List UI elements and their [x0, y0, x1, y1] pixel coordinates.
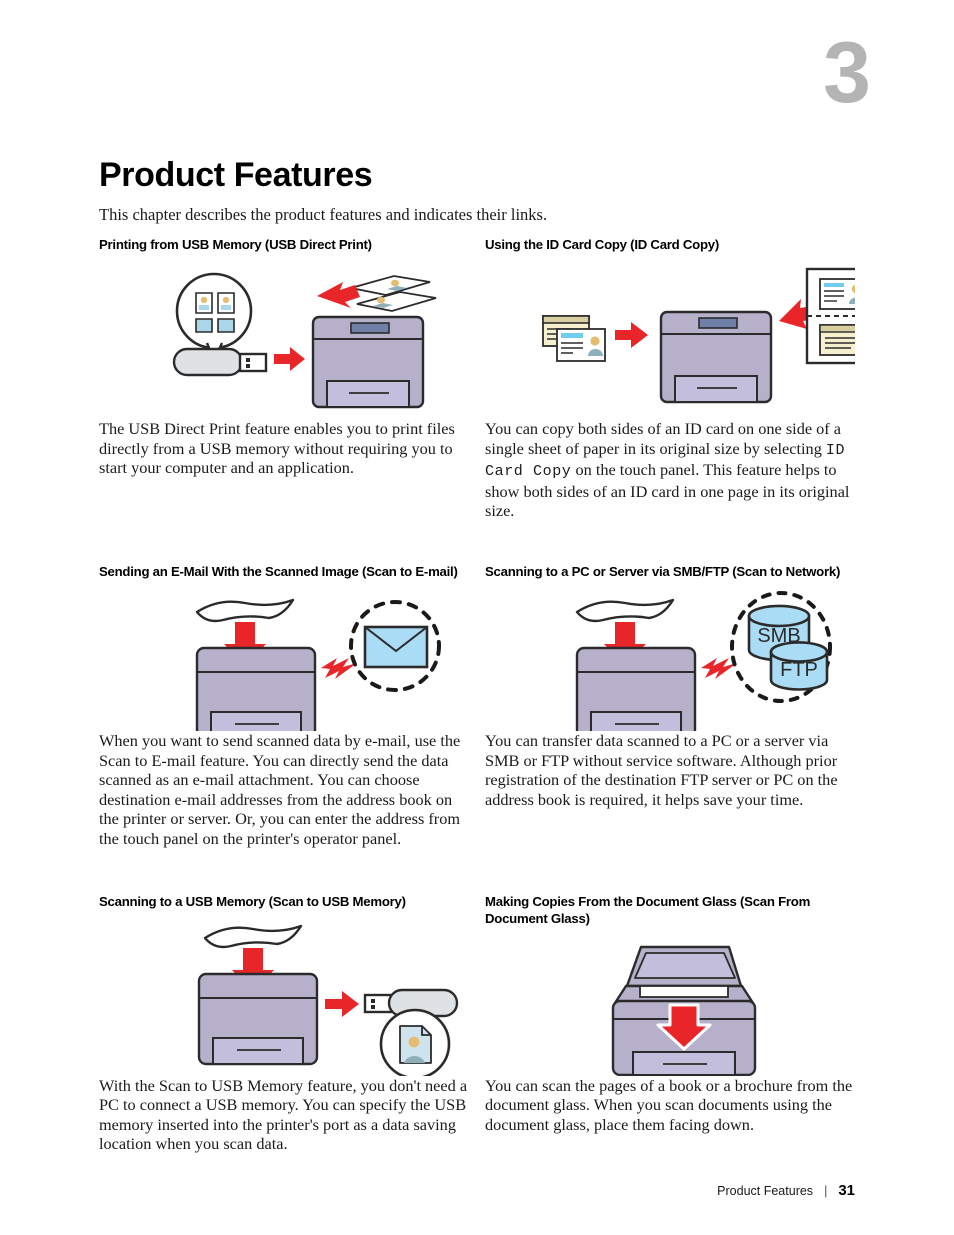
- feature-scan-from-document-glass: Making Copies From the Document Glass (S…: [485, 893, 855, 1154]
- section-body: With the Scan to USB Memory feature, you…: [99, 1076, 469, 1154]
- page-footer: Product Features | 31: [717, 1182, 855, 1199]
- ftp-label: FTP: [780, 659, 818, 681]
- scan-to-usb-illustration: [99, 916, 469, 1076]
- section-body: The USB Direct Print feature enables you…: [99, 419, 469, 478]
- section-body: You can transfer data scanned to a PC or…: [485, 731, 855, 809]
- feature-grid: Printing from USB Memory (USB Direct Pri…: [99, 236, 855, 1154]
- feature-id-card-copy: Using the ID Card Copy (ID Card Copy): [485, 236, 855, 521]
- scan-to-email-illustration: [99, 586, 469, 731]
- section-body: You can scan the pages of a book or a br…: [485, 1076, 855, 1135]
- feature-row-3: Scanning to a USB Memory (Scan to USB Me…: [99, 893, 855, 1154]
- section-body-part1: You can copy both sides of an ID card on…: [485, 419, 841, 458]
- feature-scan-to-network: Scanning to a PC or Server via SMB/FTP (…: [485, 563, 855, 849]
- section-heading: Using the ID Card Copy (ID Card Copy): [485, 236, 855, 253]
- intro-paragraph: This chapter describes the product featu…: [99, 205, 799, 225]
- section-heading: Scanning to a PC or Server via SMB/FTP (…: [485, 563, 855, 580]
- feature-row-1: Printing from USB Memory (USB Direct Pri…: [99, 236, 855, 521]
- section-heading: Sending an E-Mail With the Scanned Image…: [99, 563, 469, 580]
- feature-scan-to-email: Sending an E-Mail With the Scanned Image…: [99, 563, 469, 849]
- feature-row-2: Sending an E-Mail With the Scanned Image…: [99, 563, 855, 849]
- feature-usb-direct-print: Printing from USB Memory (USB Direct Pri…: [99, 236, 469, 521]
- usb-direct-print-illustration: [99, 259, 469, 419]
- section-heading: Scanning to a USB Memory (Scan to USB Me…: [99, 893, 469, 910]
- section-heading: Making Copies From the Document Glass (S…: [485, 893, 855, 927]
- feature-scan-to-usb-memory: Scanning to a USB Memory (Scan to USB Me…: [99, 893, 469, 1154]
- footer-separator: |: [824, 1184, 827, 1198]
- id-card-copy-illustration: [485, 259, 855, 419]
- scan-from-document-glass-illustration: [485, 933, 855, 1076]
- footer-page-number: 31: [838, 1182, 855, 1199]
- scan-to-network-illustration: SMB FTP: [485, 586, 855, 731]
- chapter-number: 3: [823, 30, 869, 116]
- footer-chapter-name: Product Features: [717, 1184, 813, 1198]
- section-heading: Printing from USB Memory (USB Direct Pri…: [99, 236, 469, 253]
- page-title: Product Features: [99, 155, 372, 195]
- section-body: You can copy both sides of an ID card on…: [485, 419, 855, 521]
- section-body: When you want to send scanned data by e-…: [99, 731, 469, 849]
